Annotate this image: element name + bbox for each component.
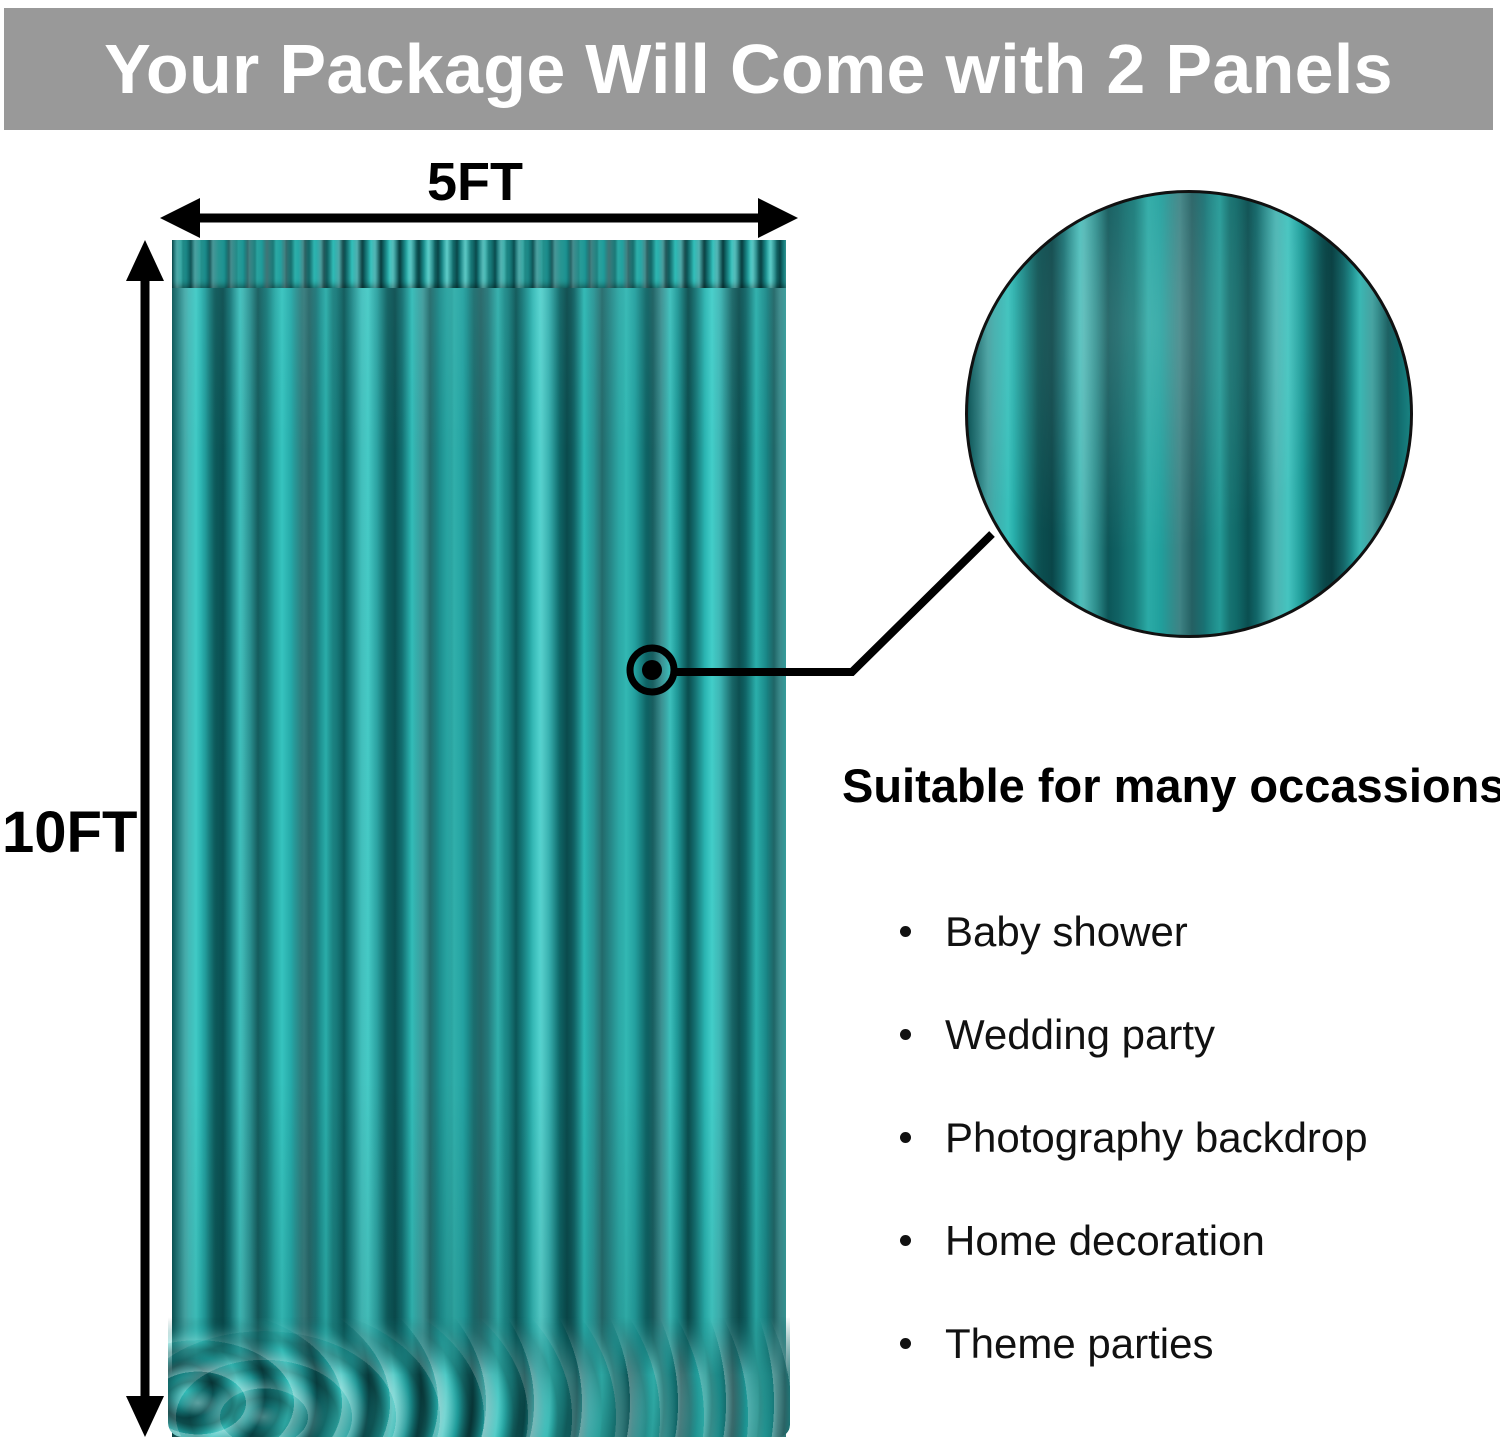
- occasion-label: Wedding party: [945, 1011, 1215, 1059]
- list-item: Theme parties: [900, 1292, 1368, 1395]
- list-item: Wedding party: [900, 983, 1368, 1086]
- list-item: Home decoration: [900, 1189, 1368, 1292]
- curtain-pooled-hem: [168, 1317, 790, 1437]
- banner-title: Your Package Will Come with 2 Panels: [104, 34, 1393, 104]
- width-dimension-label: 5FT: [0, 155, 950, 209]
- curtain-panel-image: [172, 240, 786, 1437]
- curtain-fabric-pleats: [172, 240, 786, 1437]
- occasion-label: Photography backdrop: [945, 1114, 1368, 1162]
- list-item: Photography backdrop: [900, 1086, 1368, 1189]
- bullet-icon: [900, 1029, 911, 1040]
- occasion-label: Baby shower: [945, 908, 1188, 956]
- occasions-heading: Suitable for many occassions:: [842, 762, 1500, 809]
- occasions-list: Baby shower Wedding party Photography ba…: [900, 880, 1368, 1395]
- list-item: Baby shower: [900, 880, 1368, 983]
- header-banner: Your Package Will Come with 2 Panels: [4, 8, 1493, 130]
- occasion-label: Theme parties: [945, 1320, 1213, 1368]
- bullet-icon: [900, 1338, 911, 1349]
- bullet-icon: [900, 1235, 911, 1246]
- height-dimension-label: 10FT: [2, 804, 137, 862]
- infographic-page: Your Package Will Come with 2 Panels 5FT…: [0, 0, 1500, 1445]
- fabric-closeup-magnifier: [965, 190, 1413, 638]
- bullet-icon: [900, 1132, 911, 1143]
- curtain-rod-pocket-header: [172, 240, 786, 288]
- bullet-icon: [900, 926, 911, 937]
- occasion-label: Home decoration: [945, 1217, 1265, 1265]
